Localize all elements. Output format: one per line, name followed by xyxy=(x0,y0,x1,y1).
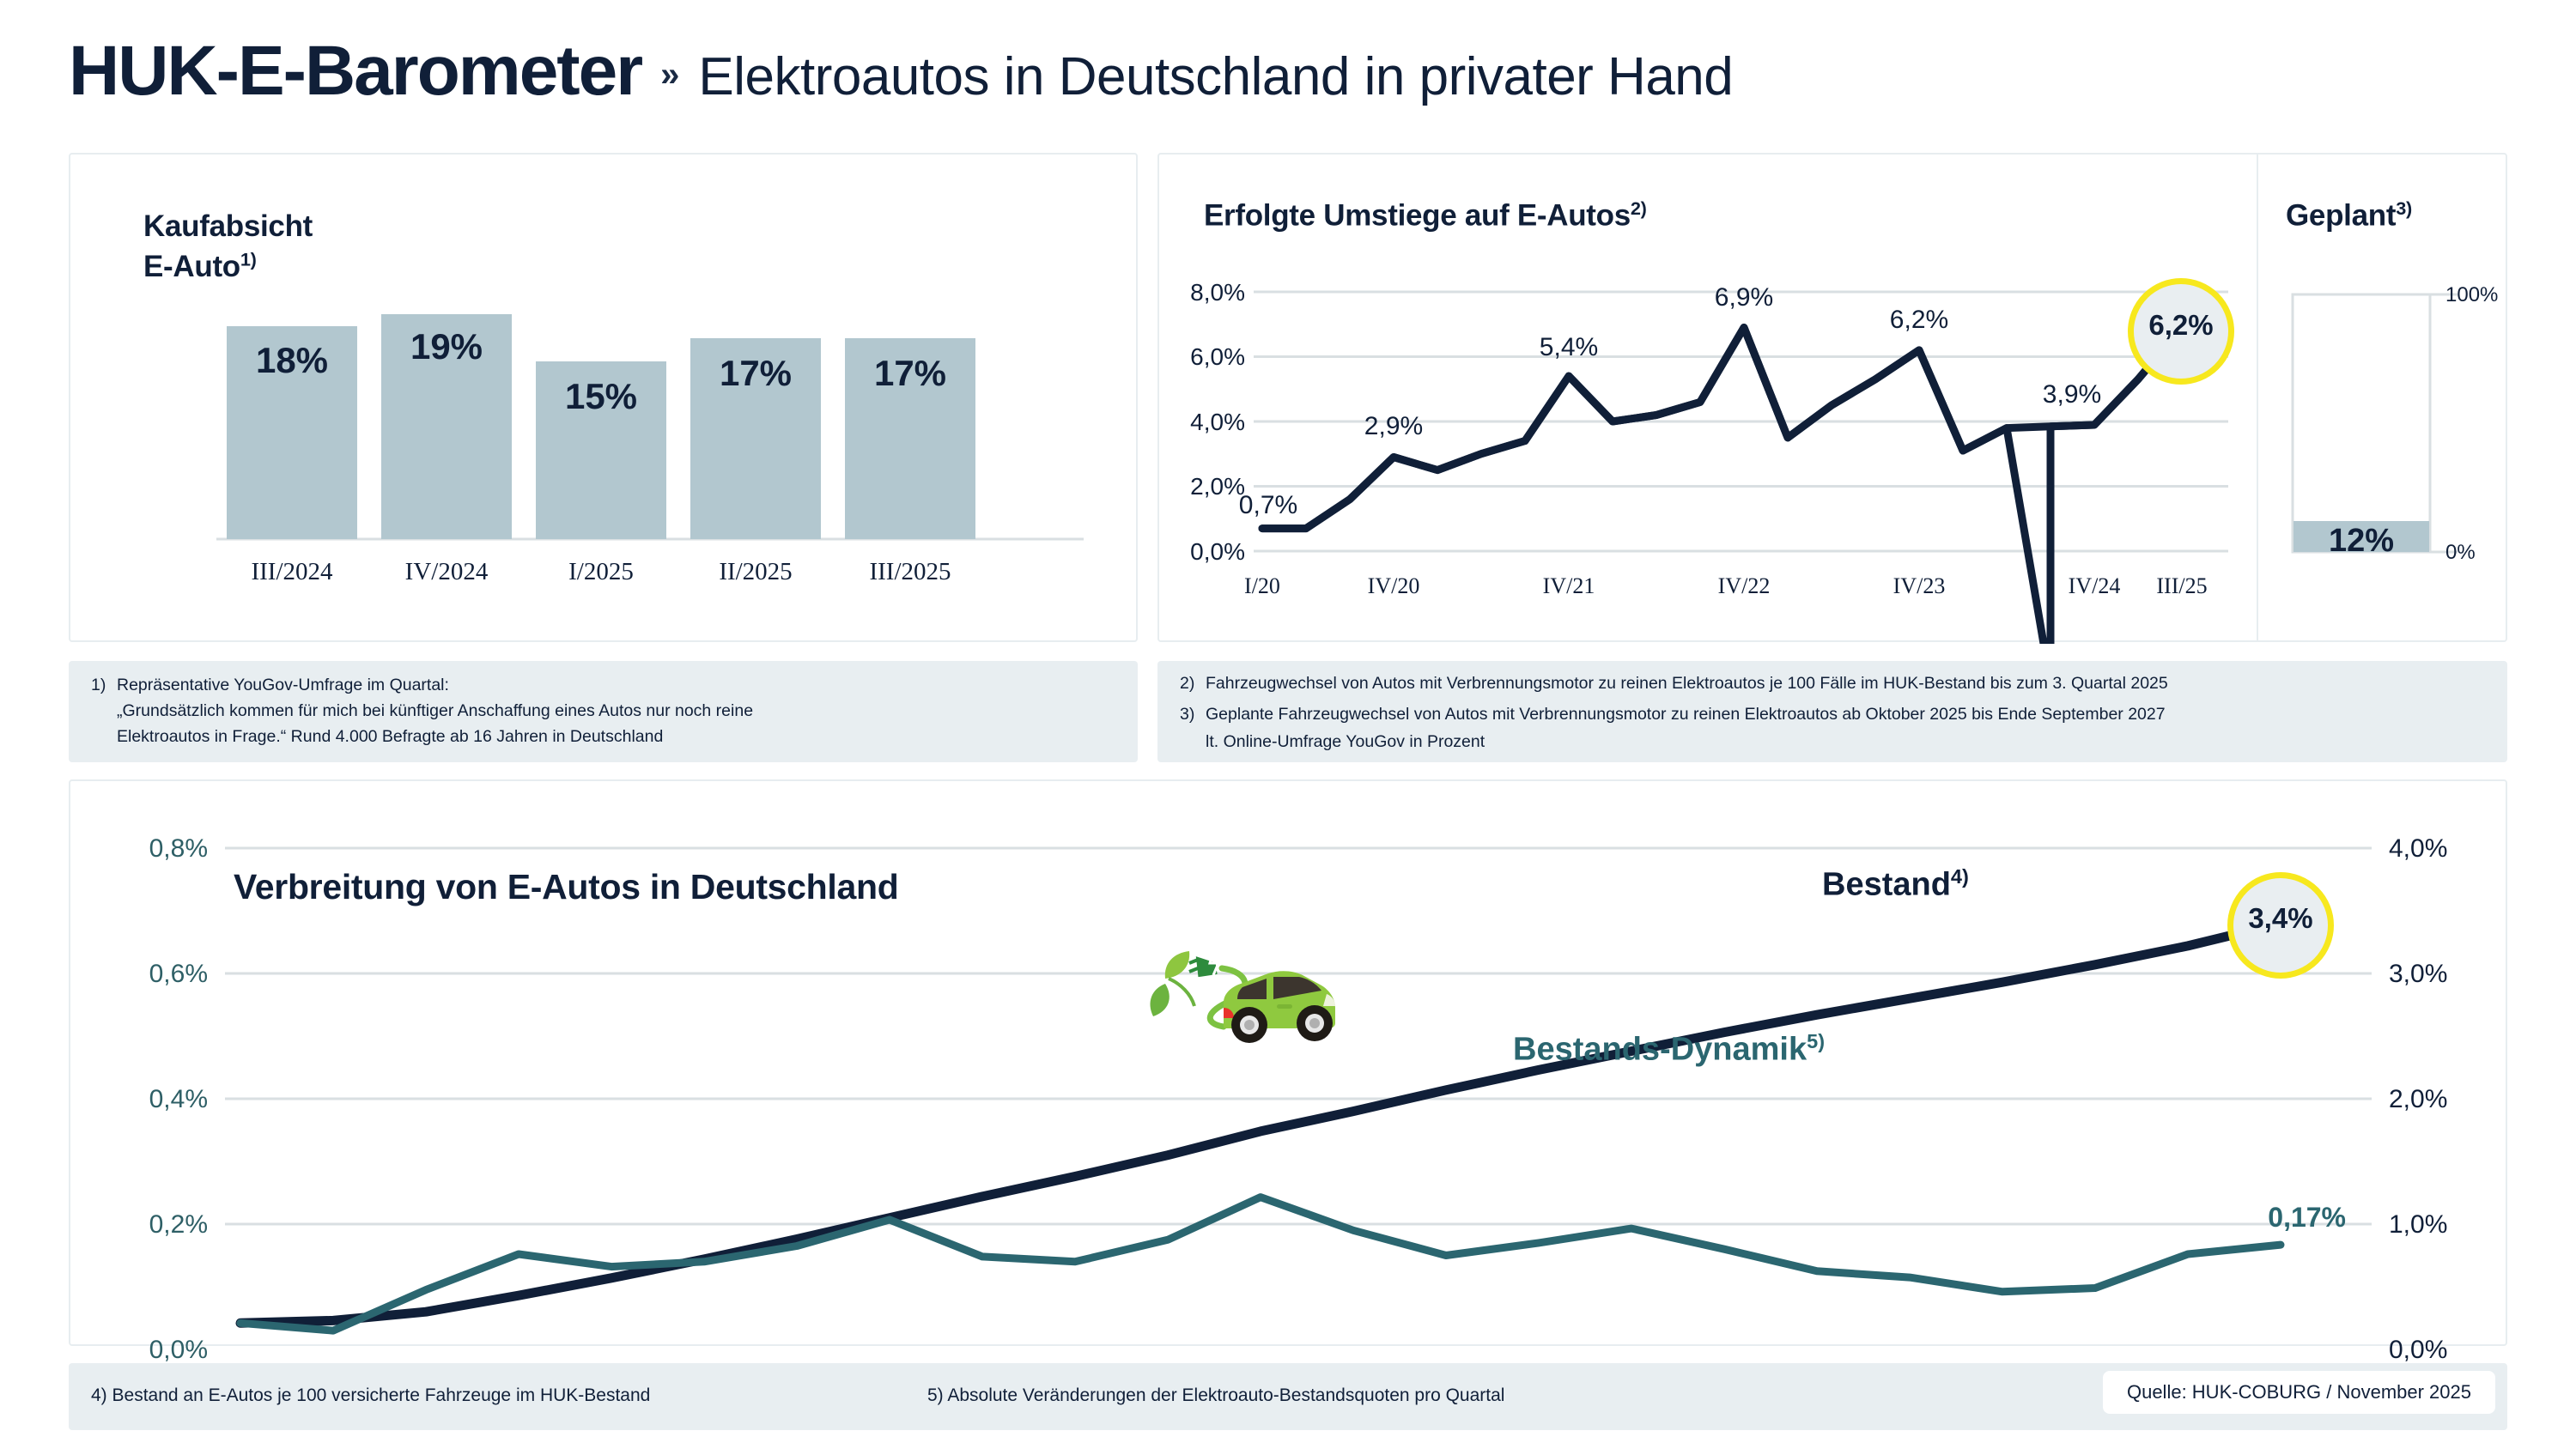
geplant-frame xyxy=(2293,294,2430,552)
note1-line3: Elektroautos in Frage.“ Rund 4.000 Befra… xyxy=(117,724,663,749)
geplant-tick-bottom: 0% xyxy=(2445,541,2476,565)
bestand-end-label: 3,4% xyxy=(2227,902,2334,935)
note1-line2: „Grundsätzlich kommen für mich bei künft… xyxy=(117,699,753,724)
umstiege-line-chart xyxy=(1159,155,2509,644)
verbreitung-right-ytick-2: 2,0% xyxy=(2389,1085,2500,1114)
umstiege-annotation-3: 6,9% xyxy=(1697,283,1791,312)
geplant-tick-top: 100% xyxy=(2445,283,2498,307)
umstiege-xtick-0: I/20 xyxy=(1219,573,1305,599)
verbreitung-left-ytick-0: 0,0% xyxy=(79,1336,208,1365)
note3-line1: Geplante Fahrzeugwechsel von Autos mit V… xyxy=(1206,705,2166,724)
bestands-dynamik-series-line xyxy=(240,1197,2281,1331)
verbreitung-left-ytick-1: 0,2% xyxy=(79,1210,208,1240)
legend-bestand: Bestand4) xyxy=(1822,865,1969,904)
note5: 5) Absolute Veränderungen der Elektroaut… xyxy=(927,1382,1504,1410)
geplant-value-label: 12% xyxy=(2293,523,2429,560)
footnote-marker-5: 5) xyxy=(1807,1030,1825,1052)
umstiege-xtick-5: IV/24 xyxy=(2051,573,2137,599)
umstiege-ytick-4: 4,0% xyxy=(1176,409,1245,436)
notes-band-bottom: 4) Bestand an E-Autos je 100 versicherte… xyxy=(69,1363,2507,1430)
note1-number: 1) xyxy=(91,673,117,698)
umstiege-ytick-6: 6,0% xyxy=(1176,343,1245,371)
bar-value-4: 17% xyxy=(845,353,975,394)
verbreitung-left-ytick-3: 0,6% xyxy=(79,960,208,989)
panel-divider xyxy=(2257,155,2258,640)
verbreitung-left-ytick-2: 0,4% xyxy=(79,1085,208,1114)
verbreitung-right-ytick-1: 1,0% xyxy=(2389,1210,2500,1240)
verbreitung-right-ytick-3: 3,0% xyxy=(2389,960,2500,989)
verbreitung-right-ytick-0: 0,0% xyxy=(2389,1336,2500,1365)
note3-line2: lt. Online-Umfrage YouGov in Prozent xyxy=(1206,730,1485,755)
verbreitung-right-ytick-4: 4,0% xyxy=(2389,834,2500,864)
page-headline: Elektroautos in Deutschland in privater … xyxy=(698,46,1733,107)
dynamik-end-label: 0,17% xyxy=(2191,1202,2346,1234)
source-badge: Quelle: HUK-COBURG / November 2025 xyxy=(2103,1371,2495,1414)
page-header: HUK-E-Barometer » Elektroautos in Deutsc… xyxy=(69,31,1733,112)
notes-band-left: 1)Repräsentative YouGov-Umfrage im Quart… xyxy=(69,661,1138,762)
umstiege-annotation-4: 6,2% xyxy=(1872,306,1966,335)
umstiege-annotation-2: 5,4% xyxy=(1522,333,1616,362)
bar-value-0: 18% xyxy=(227,340,357,381)
notes-band-right: 2)Fahrzeugwechsel von Autos mit Verbrenn… xyxy=(1157,661,2507,762)
umstiege-xtick-1: IV/20 xyxy=(1351,573,1437,599)
umstiege-xtick-4: IV/23 xyxy=(1876,573,1962,599)
umstiege-annotation-5: 3,9% xyxy=(2025,380,2119,409)
note2-number: 2) xyxy=(1180,671,1206,696)
infographic-page: HUK-E-Barometer » Elektroautos in Deutsc… xyxy=(0,0,2576,1455)
note3-number: 3) xyxy=(1180,702,1206,727)
bar-category-4: III/2025 xyxy=(828,558,993,586)
note4: 4) Bestand an E-Autos je 100 versicherte… xyxy=(91,1382,650,1410)
verbreitung-line-chart xyxy=(70,781,2509,1348)
chevron-right-icon: » xyxy=(660,56,679,94)
umstiege-xtick-2: IV/21 xyxy=(1526,573,1612,599)
panel-umstiege: Erfolgte Umstiege auf E-Autos2) Geplant3… xyxy=(1157,153,2507,642)
umstiege-annotation-1: 2,9% xyxy=(1346,412,1441,441)
umstiege-xtick-3: IV/22 xyxy=(1701,573,1787,599)
bar-value-3: 17% xyxy=(690,353,821,394)
umstiege-annotation-0: 0,7% xyxy=(1221,491,1315,520)
bar-category-3: II/2025 xyxy=(673,558,838,586)
umstiege-ytick-8: 8,0% xyxy=(1176,279,1245,306)
brand-title: HUK-E-Barometer xyxy=(69,31,641,112)
bar-category-2: I/2025 xyxy=(519,558,683,586)
note1-line1: Repräsentative YouGov-Umfrage im Quartal… xyxy=(117,676,449,694)
bar-category-0: III/2024 xyxy=(210,558,374,586)
bar-category-1: IV/2024 xyxy=(364,558,529,586)
bar-value-2: 15% xyxy=(536,376,666,417)
bar-value-1: 19% xyxy=(381,326,512,367)
note2-line1: Fahrzeugwechsel von Autos mit Verbrennun… xyxy=(1206,674,2168,693)
panel-verbreitung: Verbreitung von E-Autos in Deutschland 0… xyxy=(69,779,2507,1346)
footnote-marker-4: 4) xyxy=(1951,865,1969,888)
umstiege-annotation-highlight: 6,2% xyxy=(2128,309,2234,342)
umstiege-ytick-0: 0,0% xyxy=(1176,538,1245,566)
legend-bestands-dynamik: Bestands-Dynamik5) xyxy=(1513,1030,1825,1069)
verbreitung-title: Verbreitung von E-Autos in Deutschland xyxy=(234,867,899,907)
verbreitung-left-ytick-4: 0,8% xyxy=(79,834,208,864)
umstiege-xtick-6: III/25 xyxy=(2139,573,2225,599)
panel-kaufabsicht: Kaufabsicht E-Auto1) 18% 19% 15% 17% 17%… xyxy=(69,153,1138,642)
electric-car-icon xyxy=(1139,934,1354,1046)
